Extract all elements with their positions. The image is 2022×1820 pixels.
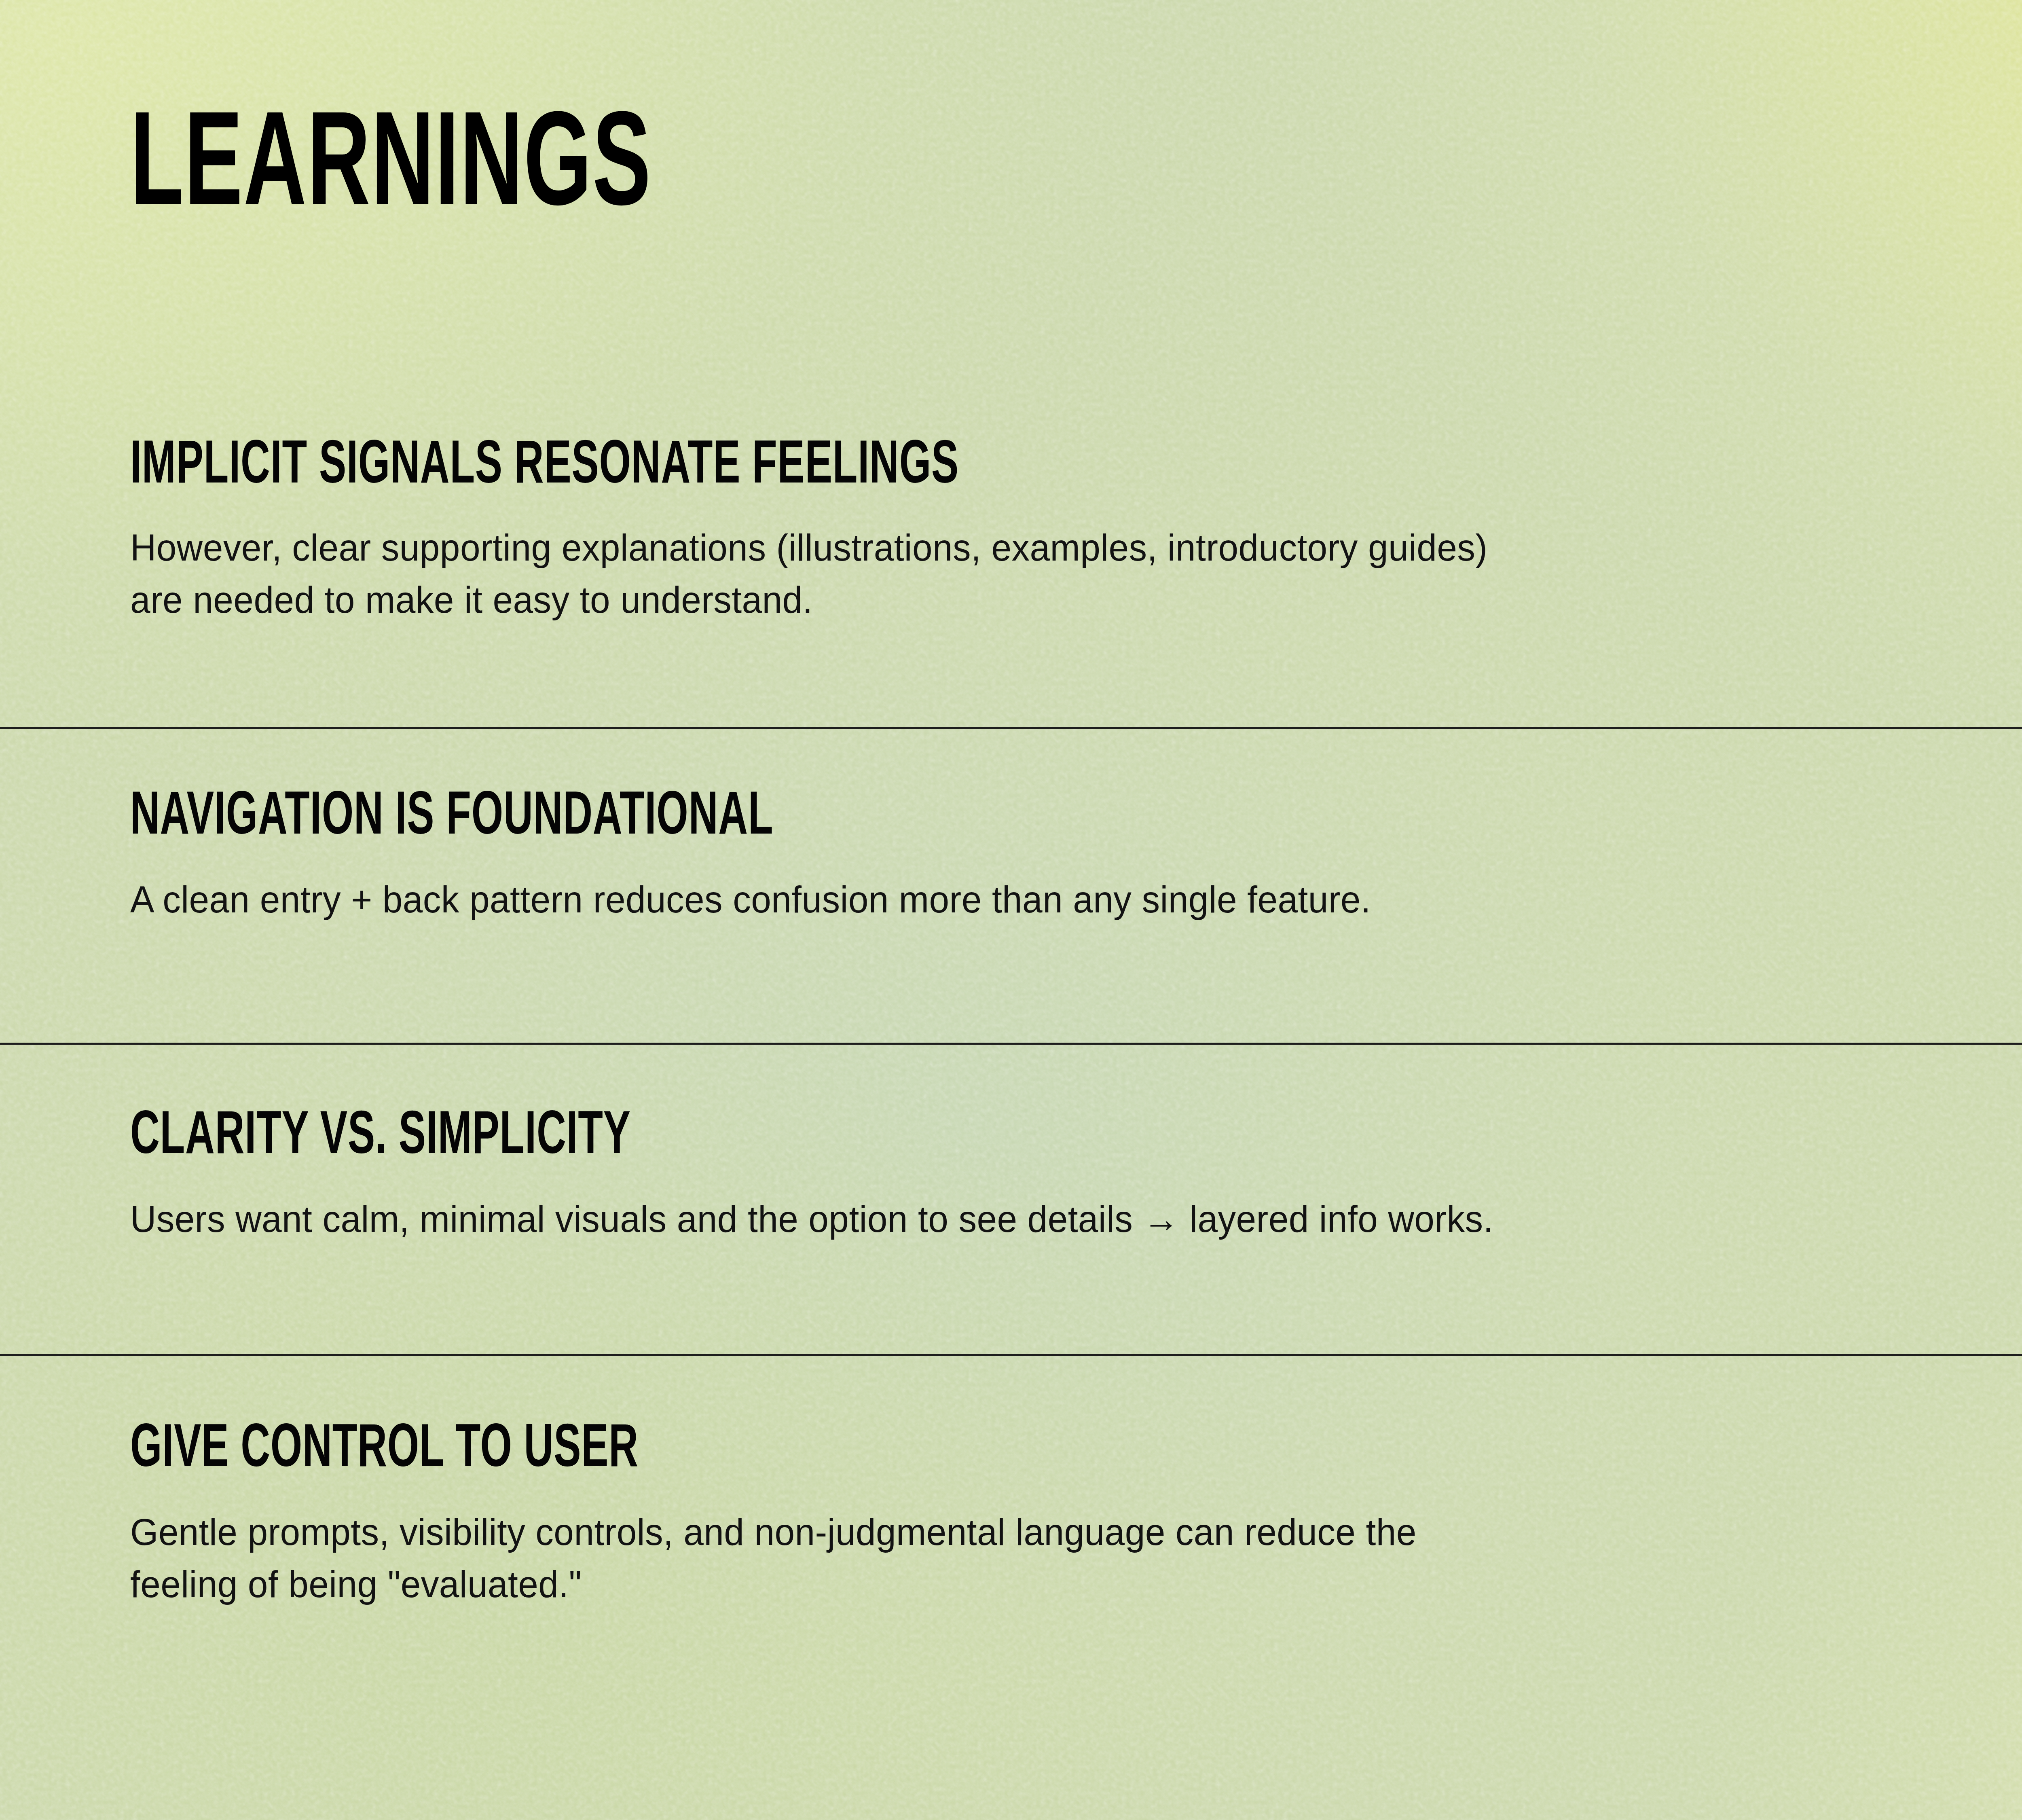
learning-section-3: CLARITY VS. SIMPLICITY Users want calm, …: [0, 1107, 2022, 1245]
slide-content: LEARNINGS IMPLICIT SIGNALS RESONATE FEEL…: [0, 0, 2022, 1820]
section-2-inner: NAVIGATION IS FOUNDATIONAL A clean entry…: [0, 788, 2022, 926]
slide-root: LEARNINGS IMPLICIT SIGNALS RESONATE FEEL…: [0, 0, 2022, 1820]
section-4-body-line-1: Gentle prompts, visibility controls, and…: [130, 1506, 2022, 1558]
section-3-body: Users want calm, minimal visuals and the…: [130, 1193, 2022, 1245]
section-1-inner: IMPLICIT SIGNALS RESONATE FEELINGS Howev…: [0, 437, 2022, 626]
section-1-body-line-2: are needed to make it easy to understand…: [130, 574, 2022, 626]
section-3-body-line-1: Users want calm, minimal visuals and the…: [130, 1193, 2022, 1245]
title-block: LEARNINGS: [130, 115, 782, 225]
section-2-body: A clean entry + back pattern reduces con…: [130, 874, 2022, 926]
learning-section-4: GIVE CONTROL TO USER Gentle prompts, vis…: [0, 1420, 2022, 1610]
section-3-inner: CLARITY VS. SIMPLICITY Users want calm, …: [0, 1107, 2022, 1245]
section-4-body: Gentle prompts, visibility controls, and…: [130, 1506, 2022, 1610]
section-1-body-line-1: However, clear supporting explanations (…: [130, 522, 2022, 574]
section-2-body-line-1: A clean entry + back pattern reduces con…: [130, 874, 2022, 926]
learning-section-1: IMPLICIT SIGNALS RESONATE FEELINGS Howev…: [0, 437, 2022, 626]
section-divider-3: [0, 1354, 2022, 1356]
section-divider-1: [0, 727, 2022, 729]
learning-section-2: NAVIGATION IS FOUNDATIONAL A clean entry…: [0, 788, 2022, 926]
section-divider-2: [0, 1043, 2022, 1045]
section-1-heading: IMPLICIT SIGNALS RESONATE FEELINGS: [130, 437, 2022, 497]
page-title: LEARNINGS: [130, 115, 651, 225]
section-3-heading: CLARITY VS. SIMPLICITY: [130, 1107, 2022, 1168]
section-4-body-line-2: feeling of being "evaluated.": [130, 1558, 2022, 1610]
section-4-heading: GIVE CONTROL TO USER: [130, 1420, 2022, 1481]
section-2-heading: NAVIGATION IS FOUNDATIONAL: [130, 788, 2022, 849]
section-1-body: However, clear supporting explanations (…: [130, 522, 2022, 626]
section-4-inner: GIVE CONTROL TO USER Gentle prompts, vis…: [0, 1420, 2022, 1610]
